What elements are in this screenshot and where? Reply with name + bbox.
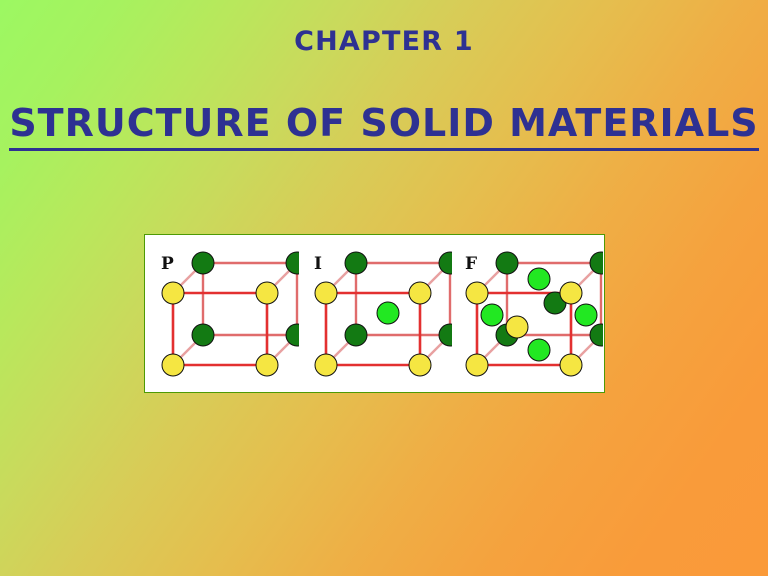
corner-point — [560, 282, 582, 304]
corner-point — [256, 282, 278, 304]
front-edges-p — [173, 293, 267, 365]
page-title: STRUCTURE OF SOLID MATERIALS — [0, 101, 768, 151]
front-edges-i — [326, 293, 420, 365]
corner-point — [315, 354, 337, 376]
corner-point — [466, 282, 488, 304]
corner-point — [409, 282, 431, 304]
cell-label-p: P — [161, 254, 174, 274]
corner-point — [162, 354, 184, 376]
body-centre-point — [377, 302, 399, 324]
corner-point — [256, 354, 278, 376]
corner-point — [345, 252, 367, 274]
back-edges-p — [173, 263, 297, 365]
corner-point — [409, 354, 431, 376]
unit-cell-figure-panel: P — [144, 234, 605, 393]
front-face-centre-point — [506, 316, 528, 338]
page-title-text: STRUCTURE OF SOLID MATERIALS — [9, 101, 758, 151]
chapter-label: CHAPTER 1 — [0, 26, 768, 57]
face-centre-point — [528, 268, 550, 290]
back-face-edges-p — [203, 263, 297, 335]
corner-point — [162, 282, 184, 304]
corner-point — [496, 252, 518, 274]
lattice-points-i — [315, 252, 452, 376]
face-centre-points-f — [481, 268, 597, 361]
corner-point — [315, 282, 337, 304]
face-centre-point — [481, 304, 503, 326]
face-centre-point — [528, 339, 550, 361]
face-centre-point — [575, 304, 597, 326]
slide-canvas: CHAPTER 1 STRUCTURE OF SOLID MATERIALS P — [0, 0, 768, 576]
corner-point — [192, 252, 214, 274]
cell-label-i: I — [314, 254, 322, 274]
corner-point — [466, 354, 488, 376]
corner-point — [345, 324, 367, 346]
corner-point — [560, 354, 582, 376]
cell-label-f: F — [465, 254, 477, 274]
lattice-points-p — [162, 252, 299, 376]
corner-point — [192, 324, 214, 346]
unit-cell-diagram-p: P — [149, 237, 299, 389]
unit-cell-diagram-i: I — [302, 237, 452, 389]
unit-cell-diagram-f: F — [453, 237, 603, 389]
back-face-edges-i — [356, 263, 450, 335]
